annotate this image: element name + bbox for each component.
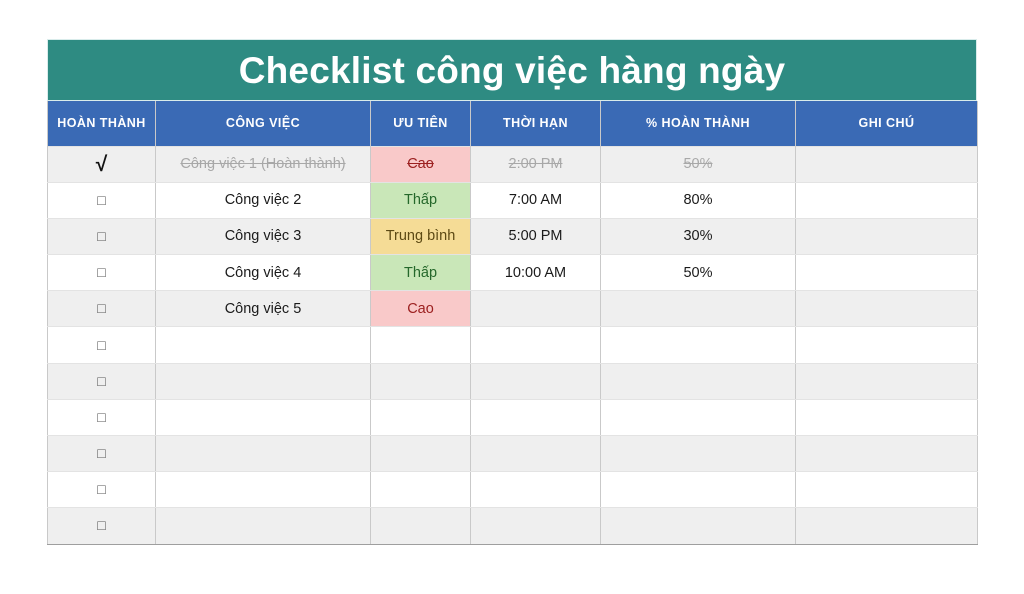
header-row: HOÀN THÀNH CÔNG VIỆC ƯU TIÊN THỜI HẠN % … (48, 101, 978, 146)
deadline-cell[interactable]: 7:00 AM (471, 182, 601, 218)
priority-cell[interactable] (371, 436, 471, 472)
empty-box-icon: □ (97, 300, 105, 316)
note-cell[interactable] (796, 218, 978, 254)
task-name-cell[interactable]: Công việc 5 (156, 291, 371, 327)
empty-box-icon: □ (97, 192, 105, 208)
percent-complete-cell[interactable]: 80% (601, 182, 796, 218)
percent-complete-cell[interactable] (601, 399, 796, 435)
percent-complete-cell[interactable] (601, 472, 796, 508)
note-cell[interactable] (796, 508, 978, 544)
empty-box-icon: □ (97, 445, 105, 461)
deadline-cell[interactable] (471, 291, 601, 327)
empty-box-icon: □ (97, 264, 105, 280)
checklist-table: HOÀN THÀNH CÔNG VIỆC ƯU TIÊN THỜI HẠN % … (47, 101, 978, 545)
deadline-cell[interactable] (471, 327, 601, 363)
percent-complete-cell[interactable]: 30% (601, 218, 796, 254)
column-header-done[interactable]: HOÀN THÀNH (48, 101, 156, 146)
task-name-cell[interactable]: Công việc 3 (156, 218, 371, 254)
note-cell[interactable] (796, 291, 978, 327)
checkbox-unchecked[interactable]: □ (48, 218, 156, 254)
table-row: □ (48, 472, 978, 508)
checkbox-unchecked[interactable]: □ (48, 399, 156, 435)
checkbox-unchecked[interactable]: □ (48, 327, 156, 363)
table-row: □ (48, 363, 978, 399)
empty-box-icon: □ (97, 409, 105, 425)
empty-box-icon: □ (97, 228, 105, 244)
priority-cell[interactable] (371, 327, 471, 363)
note-cell[interactable] (796, 472, 978, 508)
priority-cell[interactable]: Cao (371, 291, 471, 327)
priority-cell[interactable]: Thấp (371, 255, 471, 291)
deadline-cell[interactable] (471, 472, 601, 508)
empty-box-icon: □ (97, 481, 105, 497)
task-name-cell[interactable] (156, 472, 371, 508)
table-row: □ (48, 508, 978, 544)
priority-cell[interactable]: Thấp (371, 182, 471, 218)
column-header-priority[interactable]: ƯU TIÊN (371, 101, 471, 146)
checkbox-checked[interactable]: √ (48, 146, 156, 182)
task-name-cell[interactable]: Công việc 2 (156, 182, 371, 218)
percent-complete-cell[interactable] (601, 436, 796, 472)
task-name-cell[interactable]: Công việc 1 (Hoàn thành) (156, 146, 371, 182)
checkbox-unchecked[interactable]: □ (48, 255, 156, 291)
table-body: √Công việc 1 (Hoàn thành)Cao2:00 PM50%□C… (48, 146, 978, 544)
task-name-cell[interactable] (156, 399, 371, 435)
priority-cell[interactable] (371, 508, 471, 544)
deadline-cell[interactable] (471, 399, 601, 435)
deadline-cell[interactable]: 5:00 PM (471, 218, 601, 254)
deadline-cell[interactable]: 10:00 AM (471, 255, 601, 291)
checklist-sheet: Checklist công việc hàng ngày HOÀN THÀNH… (47, 39, 977, 545)
note-cell[interactable] (796, 436, 978, 472)
column-header-deadline[interactable]: THỜI HẠN (471, 101, 601, 146)
checkbox-unchecked[interactable]: □ (48, 291, 156, 327)
percent-complete-cell[interactable]: 50% (601, 146, 796, 182)
checkbox-unchecked[interactable]: □ (48, 182, 156, 218)
task-name-cell[interactable] (156, 363, 371, 399)
table-row: □Công việc 4Thấp10:00 AM50% (48, 255, 978, 291)
table-row: □Công việc 5Cao (48, 291, 978, 327)
priority-cell[interactable]: Cao (371, 146, 471, 182)
table-row: □Công việc 3Trung bình5:00 PM30% (48, 218, 978, 254)
table-row: √Công việc 1 (Hoàn thành)Cao2:00 PM50% (48, 146, 978, 182)
task-name-cell[interactable]: Công việc 4 (156, 255, 371, 291)
note-cell[interactable] (796, 327, 978, 363)
column-header-task[interactable]: CÔNG VIỆC (156, 101, 371, 146)
deadline-cell[interactable] (471, 436, 601, 472)
note-cell[interactable] (796, 146, 978, 182)
deadline-cell[interactable] (471, 508, 601, 544)
note-cell[interactable] (796, 255, 978, 291)
task-name-cell[interactable] (156, 436, 371, 472)
percent-complete-cell[interactable] (601, 327, 796, 363)
priority-cell[interactable] (371, 399, 471, 435)
deadline-cell[interactable] (471, 363, 601, 399)
check-icon: √ (96, 153, 108, 176)
table-row: □ (48, 327, 978, 363)
note-cell[interactable] (796, 363, 978, 399)
note-cell[interactable] (796, 399, 978, 435)
checkbox-unchecked[interactable]: □ (48, 363, 156, 399)
checkbox-unchecked[interactable]: □ (48, 472, 156, 508)
priority-cell[interactable] (371, 363, 471, 399)
table-header: HOÀN THÀNH CÔNG VIỆC ƯU TIÊN THỜI HẠN % … (48, 101, 978, 146)
title-band: Checklist công việc hàng ngày (47, 39, 977, 101)
priority-cell[interactable] (371, 472, 471, 508)
column-header-percent[interactable]: % HOÀN THÀNH (601, 101, 796, 146)
task-name-cell[interactable] (156, 508, 371, 544)
percent-complete-cell[interactable]: 50% (601, 255, 796, 291)
checkbox-unchecked[interactable]: □ (48, 436, 156, 472)
empty-box-icon: □ (97, 373, 105, 389)
page-title: Checklist công việc hàng ngày (239, 52, 786, 89)
percent-complete-cell[interactable] (601, 363, 796, 399)
percent-complete-cell[interactable] (601, 508, 796, 544)
table-row: □ (48, 436, 978, 472)
note-cell[interactable] (796, 182, 978, 218)
priority-cell[interactable]: Trung bình (371, 218, 471, 254)
deadline-cell[interactable]: 2:00 PM (471, 146, 601, 182)
table-row: □Công việc 2Thấp7:00 AM80% (48, 182, 978, 218)
task-name-cell[interactable] (156, 327, 371, 363)
column-header-note[interactable]: GHI CHÚ (796, 101, 978, 146)
empty-box-icon: □ (97, 337, 105, 353)
checkbox-unchecked[interactable]: □ (48, 508, 156, 544)
percent-complete-cell[interactable] (601, 291, 796, 327)
empty-box-icon: □ (97, 517, 105, 533)
table-row: □ (48, 399, 978, 435)
